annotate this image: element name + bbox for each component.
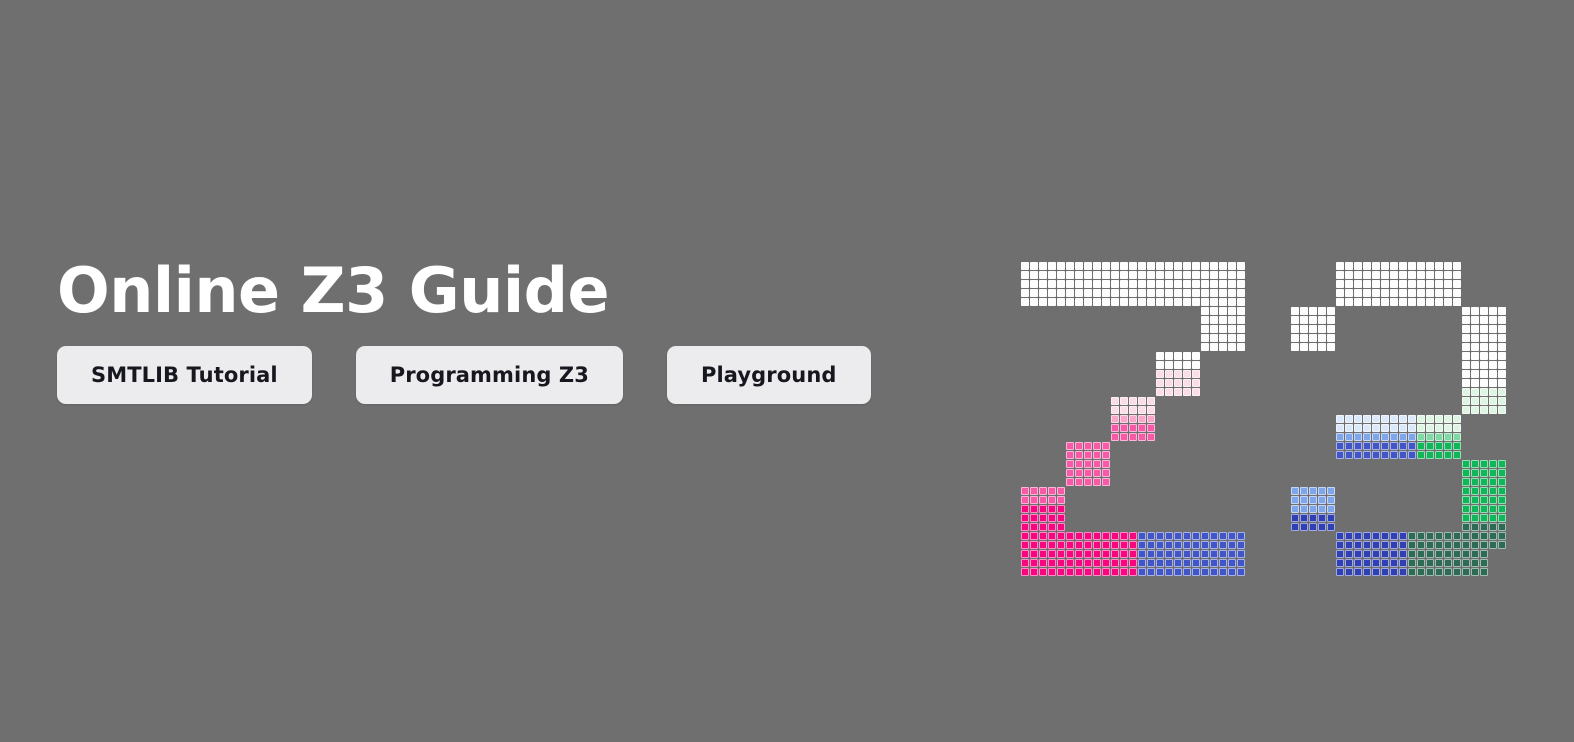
logo-pixel	[1030, 505, 1038, 513]
logo-pixel	[1498, 397, 1506, 405]
logo-pixel	[1480, 379, 1488, 387]
logo-pixel	[1120, 568, 1128, 576]
logo-pixel	[1228, 541, 1236, 549]
logo-pixel	[1111, 262, 1119, 270]
logo-pixel	[1021, 262, 1029, 270]
logo-pixel	[1291, 523, 1299, 531]
logo-pixel	[1201, 568, 1209, 576]
logo-pixel	[1426, 559, 1434, 567]
logo-pixel	[1453, 559, 1461, 567]
logo-pixel	[1192, 388, 1200, 396]
logo-pixel	[1471, 514, 1479, 522]
logo-pixel	[1327, 523, 1335, 531]
logo-pixel	[1030, 532, 1038, 540]
logo-pixel	[1030, 523, 1038, 531]
logo-pixel	[1138, 559, 1146, 567]
logo-pixel	[1237, 316, 1245, 324]
logo-pixel	[1039, 550, 1047, 558]
logo-pixel	[1498, 487, 1506, 495]
logo-pixel	[1165, 262, 1173, 270]
logo-pixel	[1120, 280, 1128, 288]
logo-pixel	[1372, 568, 1380, 576]
logo-pixel	[1021, 487, 1029, 495]
logo-pixel	[1372, 433, 1380, 441]
logo-pixel	[1030, 559, 1038, 567]
logo-pixel	[1471, 334, 1479, 342]
logo-pixel	[1381, 271, 1389, 279]
logo-pixel	[1372, 262, 1380, 270]
logo-pixel	[1156, 379, 1164, 387]
logo-pixel	[1318, 514, 1326, 522]
logo-pixel	[1381, 541, 1389, 549]
logo-pixel	[1201, 280, 1209, 288]
logo-pixel	[1048, 568, 1056, 576]
logo-pixel	[1462, 568, 1470, 576]
logo-pixel	[1480, 505, 1488, 513]
logo-pixel	[1399, 442, 1407, 450]
programming-z3-button[interactable]: Programming Z3	[356, 346, 623, 404]
logo-pixel	[1426, 415, 1434, 423]
logo-pixel	[1174, 388, 1182, 396]
logo-pixel	[1471, 568, 1479, 576]
logo-pixel	[1048, 271, 1056, 279]
logo-pixel	[1165, 541, 1173, 549]
logo-pixel	[1309, 505, 1317, 513]
logo-pixel	[1345, 262, 1353, 270]
logo-pixel	[1381, 442, 1389, 450]
logo-pixel	[1300, 487, 1308, 495]
logo-pixel	[1444, 559, 1452, 567]
z3-pixel-logo	[1021, 262, 1521, 582]
logo-pixel	[1354, 415, 1362, 423]
logo-pixel	[1156, 541, 1164, 549]
logo-pixel	[1183, 379, 1191, 387]
logo-pixel	[1174, 550, 1182, 558]
logo-pixel	[1192, 541, 1200, 549]
logo-pixel	[1363, 424, 1371, 432]
logo-pixel	[1498, 541, 1506, 549]
logo-pixel	[1480, 550, 1488, 558]
logo-pixel	[1066, 469, 1074, 477]
logo-pixel	[1336, 280, 1344, 288]
logo-pixel	[1066, 550, 1074, 558]
logo-pixel	[1462, 487, 1470, 495]
logo-pixel	[1183, 271, 1191, 279]
logo-pixel	[1363, 532, 1371, 540]
logo-pixel	[1237, 307, 1245, 315]
logo-pixel	[1471, 559, 1479, 567]
logo-pixel	[1066, 568, 1074, 576]
logo-pixel	[1102, 478, 1110, 486]
logo-pixel	[1066, 559, 1074, 567]
logo-pixel	[1435, 424, 1443, 432]
logo-pixel	[1084, 289, 1092, 297]
logo-pixel	[1120, 559, 1128, 567]
logo-pixel	[1210, 568, 1218, 576]
logo-pixel	[1462, 469, 1470, 477]
logo-pixel	[1417, 262, 1425, 270]
logo-pixel	[1291, 487, 1299, 495]
logo-pixel	[1489, 361, 1497, 369]
logo-pixel	[1462, 541, 1470, 549]
logo-pixel	[1102, 442, 1110, 450]
logo-pixel	[1300, 316, 1308, 324]
logo-pixel	[1489, 325, 1497, 333]
logo-pixel	[1093, 568, 1101, 576]
logo-pixel	[1147, 397, 1155, 405]
logo-pixel	[1156, 262, 1164, 270]
logo-pixel	[1426, 271, 1434, 279]
logo-pixel	[1201, 541, 1209, 549]
logo-pixel	[1156, 271, 1164, 279]
logo-pixel	[1075, 550, 1083, 558]
logo-pixel	[1480, 532, 1488, 540]
logo-pixel	[1435, 415, 1443, 423]
logo-pixel	[1336, 451, 1344, 459]
logo-pixel	[1417, 289, 1425, 297]
logo-pixel	[1219, 307, 1227, 315]
logo-pixel	[1480, 514, 1488, 522]
logo-pixel	[1327, 496, 1335, 504]
logo-pixel	[1201, 262, 1209, 270]
logo-pixel	[1129, 415, 1137, 423]
logo-pixel	[1444, 262, 1452, 270]
logo-pixel	[1435, 289, 1443, 297]
logo-pixel	[1336, 271, 1344, 279]
logo-pixel	[1174, 280, 1182, 288]
logo-pixel	[1435, 532, 1443, 540]
smtlib-tutorial-button[interactable]: SMTLIB Tutorial	[57, 346, 312, 404]
logo-pixel	[1327, 343, 1335, 351]
logo-pixel	[1489, 478, 1497, 486]
logo-pixel	[1480, 478, 1488, 486]
logo-pixel	[1120, 433, 1128, 441]
logo-pixel	[1498, 370, 1506, 378]
logo-pixel	[1057, 559, 1065, 567]
logo-pixel	[1165, 370, 1173, 378]
logo-pixel	[1111, 289, 1119, 297]
logo-pixel	[1426, 550, 1434, 558]
logo-pixel	[1372, 541, 1380, 549]
logo-pixel	[1210, 343, 1218, 351]
logo-pixel	[1129, 541, 1137, 549]
logo-pixel	[1183, 541, 1191, 549]
logo-pixel	[1489, 469, 1497, 477]
logo-pixel	[1462, 478, 1470, 486]
logo-pixel	[1399, 433, 1407, 441]
logo-pixel	[1102, 280, 1110, 288]
logo-pixel	[1309, 487, 1317, 495]
logo-pixel	[1462, 334, 1470, 342]
logo-pixel	[1237, 568, 1245, 576]
logo-pixel	[1111, 406, 1119, 414]
logo-pixel	[1021, 505, 1029, 513]
logo-pixel	[1084, 298, 1092, 306]
logo-pixel	[1219, 325, 1227, 333]
logo-pixel	[1057, 487, 1065, 495]
logo-pixel	[1444, 424, 1452, 432]
logo-pixel	[1498, 352, 1506, 360]
logo-pixel	[1462, 370, 1470, 378]
logo-pixel	[1210, 541, 1218, 549]
logo-pixel	[1156, 298, 1164, 306]
page-title: Online Z3 Guide	[57, 258, 957, 323]
logo-pixel	[1129, 289, 1137, 297]
logo-pixel	[1462, 352, 1470, 360]
logo-pixel	[1057, 280, 1065, 288]
logo-pixel	[1102, 559, 1110, 567]
logo-pixel	[1399, 532, 1407, 540]
logo-pixel	[1219, 559, 1227, 567]
logo-pixel	[1147, 559, 1155, 567]
logo-pixel	[1192, 271, 1200, 279]
logo-pixel	[1489, 532, 1497, 540]
logo-pixel	[1498, 505, 1506, 513]
logo-pixel	[1228, 334, 1236, 342]
logo-pixel	[1291, 514, 1299, 522]
logo-pixel	[1372, 271, 1380, 279]
logo-pixel	[1093, 442, 1101, 450]
logo-pixel	[1363, 415, 1371, 423]
logo-pixel	[1084, 442, 1092, 450]
logo-pixel	[1039, 568, 1047, 576]
logo-pixel	[1066, 460, 1074, 468]
logo-pixel	[1210, 271, 1218, 279]
logo-pixel	[1183, 361, 1191, 369]
logo-pixel	[1300, 334, 1308, 342]
logo-pixel	[1336, 550, 1344, 558]
logo-pixel	[1048, 532, 1056, 540]
logo-pixel	[1093, 289, 1101, 297]
logo-pixel	[1489, 487, 1497, 495]
logo-pixel	[1138, 541, 1146, 549]
logo-pixel	[1219, 289, 1227, 297]
logo-pixel	[1021, 559, 1029, 567]
logo-pixel	[1066, 532, 1074, 540]
logo-pixel	[1390, 568, 1398, 576]
logo-pixel	[1444, 442, 1452, 450]
logo-pixel	[1138, 568, 1146, 576]
logo-pixel	[1156, 280, 1164, 288]
logo-pixel	[1327, 487, 1335, 495]
logo-pixel	[1345, 289, 1353, 297]
logo-pixel	[1381, 280, 1389, 288]
logo-pixel	[1435, 433, 1443, 441]
logo-pixel	[1390, 433, 1398, 441]
logo-pixel	[1417, 280, 1425, 288]
logo-pixel	[1471, 523, 1479, 531]
logo-pixel	[1120, 298, 1128, 306]
logo-pixel	[1102, 262, 1110, 270]
logo-pixel	[1228, 568, 1236, 576]
logo-pixel	[1417, 532, 1425, 540]
logo-pixel	[1210, 298, 1218, 306]
logo-pixel	[1471, 361, 1479, 369]
logo-pixel	[1462, 406, 1470, 414]
logo-pixel	[1426, 280, 1434, 288]
logo-pixel	[1300, 523, 1308, 531]
logo-pixel	[1417, 541, 1425, 549]
logo-pixel	[1453, 532, 1461, 540]
logo-pixel	[1408, 298, 1416, 306]
logo-pixel	[1408, 262, 1416, 270]
logo-pixel	[1093, 550, 1101, 558]
logo-pixel	[1084, 568, 1092, 576]
logo-pixel	[1399, 298, 1407, 306]
logo-pixel	[1165, 550, 1173, 558]
logo-pixel	[1426, 568, 1434, 576]
logo-pixel	[1354, 559, 1362, 567]
logo-pixel	[1489, 406, 1497, 414]
logo-pixel	[1228, 550, 1236, 558]
logo-pixel	[1111, 541, 1119, 549]
logo-pixel	[1102, 568, 1110, 576]
logo-pixel	[1327, 325, 1335, 333]
logo-pixel	[1318, 496, 1326, 504]
logo-pixel	[1480, 307, 1488, 315]
logo-pixel	[1039, 523, 1047, 531]
logo-pixel	[1219, 271, 1227, 279]
logo-pixel	[1372, 415, 1380, 423]
logo-pixel	[1291, 343, 1299, 351]
logo-pixel	[1426, 451, 1434, 459]
logo-pixel	[1462, 388, 1470, 396]
logo-pixel	[1354, 280, 1362, 288]
logo-pixel	[1498, 361, 1506, 369]
logo-pixel	[1309, 334, 1317, 342]
logo-pixel	[1489, 514, 1497, 522]
logo-pixel	[1030, 514, 1038, 522]
logo-pixel	[1318, 325, 1326, 333]
logo-pixel	[1048, 280, 1056, 288]
logo-pixel	[1354, 298, 1362, 306]
logo-pixel	[1219, 532, 1227, 540]
logo-pixel	[1372, 532, 1380, 540]
logo-pixel	[1471, 460, 1479, 468]
logo-pixel	[1399, 415, 1407, 423]
logo-pixel	[1417, 442, 1425, 450]
logo-pixel	[1228, 280, 1236, 288]
logo-pixel	[1426, 298, 1434, 306]
logo-pixel	[1138, 298, 1146, 306]
logo-pixel	[1318, 343, 1326, 351]
logo-pixel	[1210, 325, 1218, 333]
logo-pixel	[1039, 262, 1047, 270]
logo-pixel	[1408, 280, 1416, 288]
logo-pixel	[1381, 451, 1389, 459]
logo-pixel	[1237, 541, 1245, 549]
logo-pixel	[1066, 262, 1074, 270]
logo-pixel	[1084, 478, 1092, 486]
logo-pixel	[1075, 451, 1083, 459]
logo-pixel	[1318, 505, 1326, 513]
logo-pixel	[1147, 424, 1155, 432]
logo-pixel	[1471, 325, 1479, 333]
logo-pixel	[1120, 415, 1128, 423]
logo-pixel	[1399, 289, 1407, 297]
logo-pixel	[1462, 397, 1470, 405]
logo-pixel	[1021, 550, 1029, 558]
logo-pixel	[1381, 424, 1389, 432]
logo-pixel	[1120, 262, 1128, 270]
logo-pixel	[1498, 460, 1506, 468]
logo-pixel	[1201, 289, 1209, 297]
logo-pixel	[1480, 496, 1488, 504]
logo-pixel	[1444, 532, 1452, 540]
logo-pixel	[1480, 370, 1488, 378]
playground-button[interactable]: Playground	[667, 346, 871, 404]
logo-pixel	[1345, 532, 1353, 540]
logo-pixel	[1471, 478, 1479, 486]
logo-pixel	[1336, 532, 1344, 540]
logo-pixel	[1399, 559, 1407, 567]
logo-pixel	[1111, 532, 1119, 540]
logo-pixel	[1075, 271, 1083, 279]
logo-pixel	[1084, 550, 1092, 558]
logo-pixel	[1498, 343, 1506, 351]
logo-pixel	[1237, 271, 1245, 279]
logo-pixel	[1093, 451, 1101, 459]
logo-pixel	[1039, 514, 1047, 522]
logo-pixel	[1201, 298, 1209, 306]
logo-pixel	[1498, 514, 1506, 522]
logo-pixel	[1390, 541, 1398, 549]
logo-pixel	[1291, 505, 1299, 513]
logo-pixel	[1489, 460, 1497, 468]
logo-pixel	[1390, 271, 1398, 279]
logo-pixel	[1345, 550, 1353, 558]
logo-pixel	[1390, 550, 1398, 558]
logo-pixel	[1030, 280, 1038, 288]
logo-pixel	[1075, 289, 1083, 297]
logo-pixel	[1318, 316, 1326, 324]
logo-pixel	[1237, 298, 1245, 306]
logo-pixel	[1453, 442, 1461, 450]
logo-pixel	[1291, 307, 1299, 315]
logo-pixel	[1363, 541, 1371, 549]
logo-pixel	[1219, 541, 1227, 549]
logo-pixel	[1471, 406, 1479, 414]
logo-pixel	[1381, 568, 1389, 576]
logo-pixel	[1183, 262, 1191, 270]
logo-pixel	[1111, 397, 1119, 405]
logo-pixel	[1300, 514, 1308, 522]
logo-pixel	[1354, 532, 1362, 540]
logo-pixel	[1156, 388, 1164, 396]
logo-pixel	[1453, 262, 1461, 270]
logo-pixel	[1381, 433, 1389, 441]
logo-pixel	[1453, 541, 1461, 549]
logo-pixel	[1237, 559, 1245, 567]
logo-pixel	[1093, 541, 1101, 549]
logo-pixel	[1498, 307, 1506, 315]
logo-pixel	[1417, 568, 1425, 576]
logo-pixel	[1030, 298, 1038, 306]
logo-pixel	[1327, 514, 1335, 522]
logo-pixel	[1021, 280, 1029, 288]
logo-pixel	[1165, 388, 1173, 396]
logo-pixel	[1201, 307, 1209, 315]
logo-pixel	[1174, 289, 1182, 297]
logo-pixel	[1489, 307, 1497, 315]
logo-pixel	[1381, 262, 1389, 270]
logo-pixel	[1075, 541, 1083, 549]
logo-pixel	[1174, 262, 1182, 270]
logo-pixel	[1462, 550, 1470, 558]
logo-pixel	[1021, 514, 1029, 522]
logo-pixel	[1480, 343, 1488, 351]
logo-pixel	[1291, 316, 1299, 324]
